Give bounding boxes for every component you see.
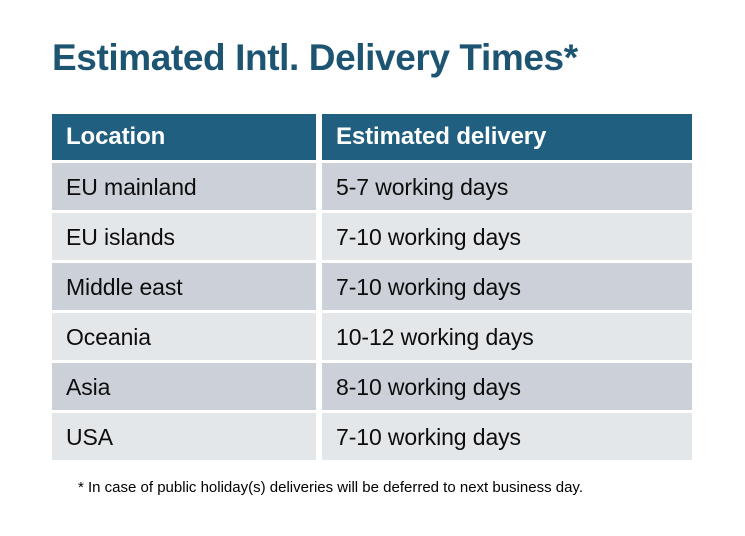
- table-row: Oceania 10-12 working days: [52, 313, 692, 360]
- cell-delivery: 7-10 working days: [322, 413, 692, 460]
- delivery-times-table: Location Estimated delivery EU mainland …: [52, 114, 692, 463]
- cell-location-value: USA: [66, 424, 113, 450]
- delivery-times-page: Estimated Intl. Delivery Times* Location…: [0, 0, 745, 536]
- table-row: Asia 8-10 working days: [52, 363, 692, 410]
- cell-location: Asia: [52, 363, 316, 410]
- cell-delivery-value: 7-10 working days: [336, 274, 521, 300]
- cell-delivery: 7-10 working days: [322, 263, 692, 310]
- page-title: Estimated Intl. Delivery Times*: [52, 35, 578, 81]
- table-row: Middle east 7-10 working days: [52, 263, 692, 310]
- cell-location: EU mainland: [52, 163, 316, 210]
- cell-delivery-value: 5-7 working days: [336, 174, 508, 200]
- table-row: EU mainland 5-7 working days: [52, 163, 692, 210]
- table-header-row: Location Estimated delivery: [52, 114, 692, 160]
- cell-location-value: EU mainland: [66, 174, 197, 200]
- cell-location-value: Asia: [66, 374, 110, 400]
- cell-location: EU islands: [52, 213, 316, 260]
- cell-delivery-value: 7-10 working days: [336, 424, 521, 450]
- column-header-location-label: Location: [66, 124, 165, 150]
- cell-location: Oceania: [52, 313, 316, 360]
- cell-location-value: Oceania: [66, 324, 151, 350]
- cell-location: USA: [52, 413, 316, 460]
- cell-location-value: Middle east: [66, 274, 183, 300]
- cell-delivery-value: 10-12 working days: [336, 324, 534, 350]
- cell-delivery: 10-12 working days: [322, 313, 692, 360]
- table-row: USA 7-10 working days: [52, 413, 692, 460]
- cell-delivery: 8-10 working days: [322, 363, 692, 410]
- cell-delivery: 5-7 working days: [322, 163, 692, 210]
- column-header-estimated-delivery: Estimated delivery: [322, 114, 692, 160]
- column-header-estimated-delivery-label: Estimated delivery: [336, 124, 546, 150]
- cell-delivery-value: 7-10 working days: [336, 224, 521, 250]
- cell-delivery: 7-10 working days: [322, 213, 692, 260]
- cell-location: Middle east: [52, 263, 316, 310]
- cell-location-value: EU islands: [66, 224, 175, 250]
- table-row: EU islands 7-10 working days: [52, 213, 692, 260]
- column-header-location: Location: [52, 114, 316, 160]
- footnote-text: * In case of public holiday(s) deliverie…: [78, 478, 583, 498]
- cell-delivery-value: 8-10 working days: [336, 374, 521, 400]
